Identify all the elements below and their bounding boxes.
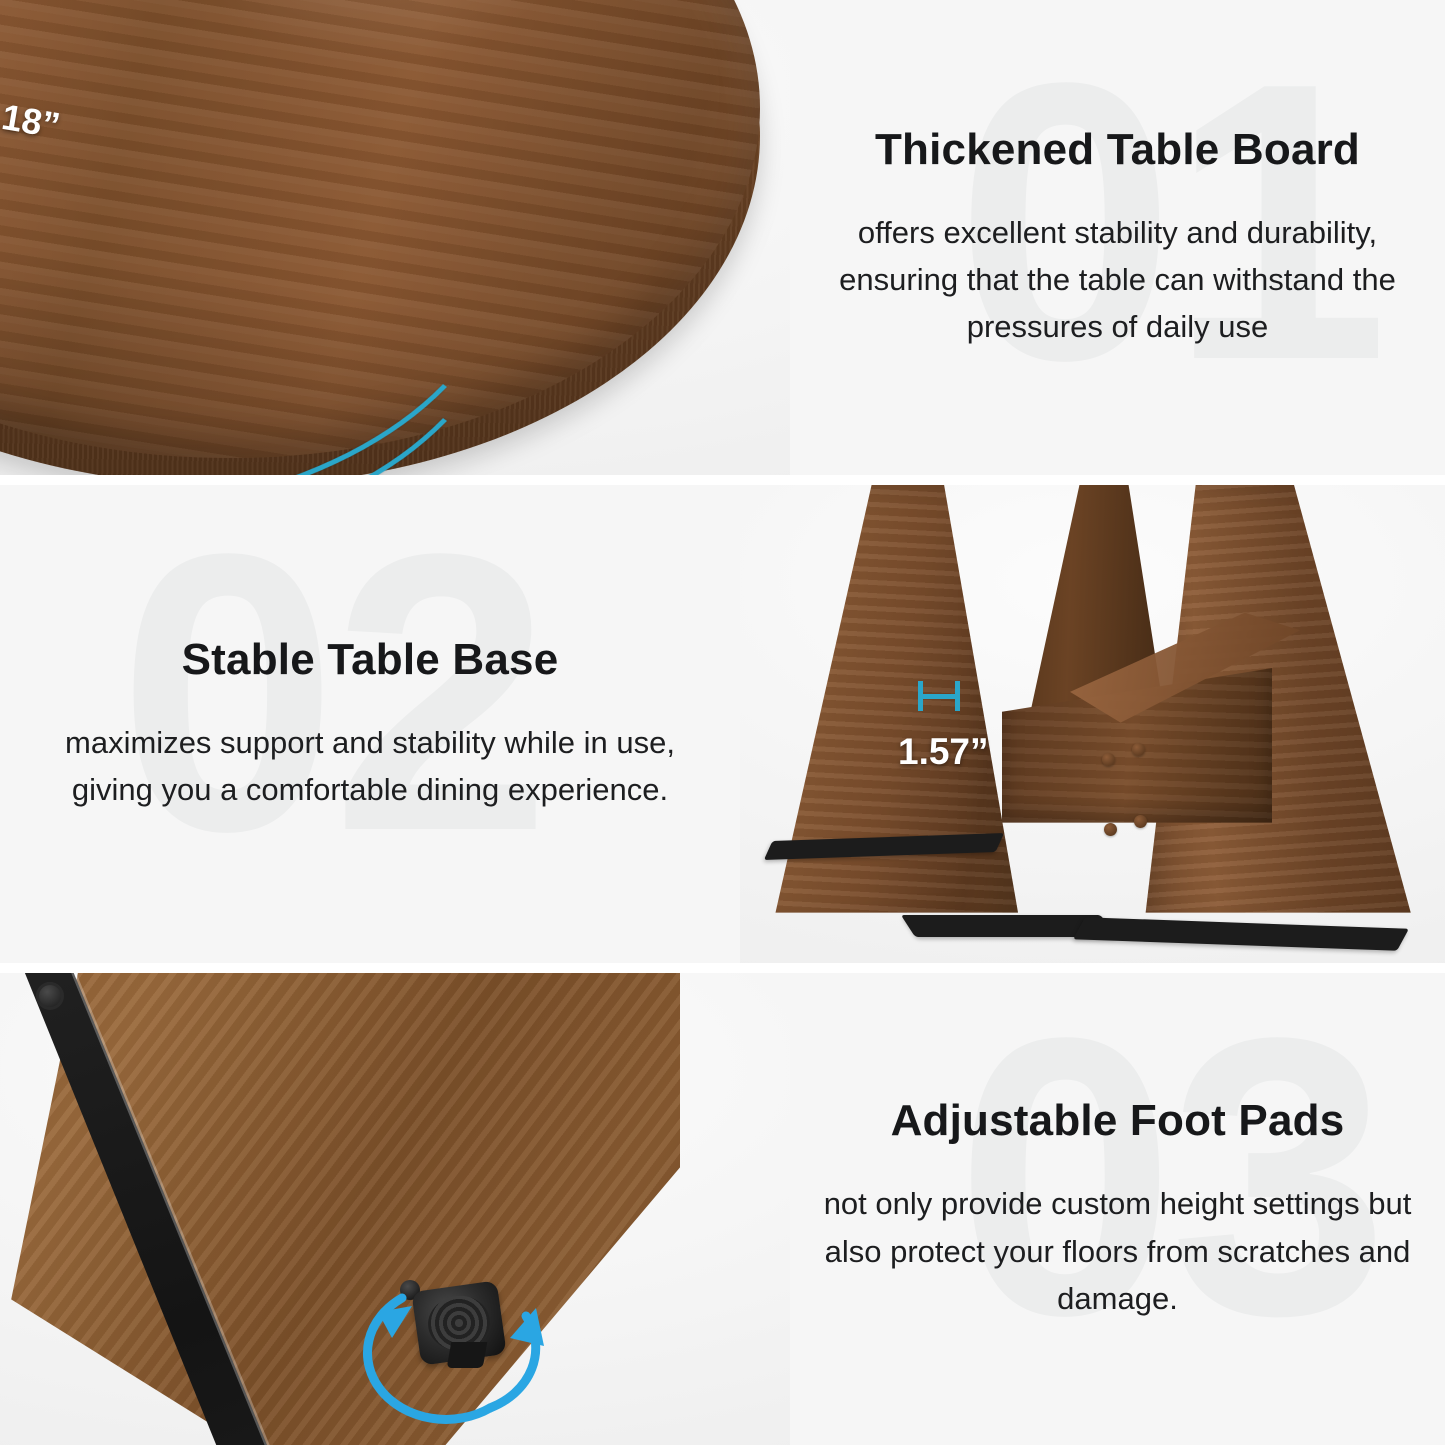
cross-pedestal-base: 1.57”	[740, 485, 1445, 964]
feature-title-01: Thickened Table Board	[875, 125, 1360, 175]
feature-panel-thickened-table-board: 1.18” 01 Thickened Table Board offers ex…	[0, 0, 1445, 475]
feature-copy-01: 01 Thickened Table Board offers excellen…	[790, 0, 1445, 475]
feature-copy-02: 02 Stable Table Base maximizes support a…	[0, 485, 740, 964]
base-foot-right	[1073, 917, 1409, 951]
table-base-thickness-label: 1.57”	[898, 731, 989, 773]
table-base-scene: 1.57”	[740, 485, 1445, 964]
round-table-top: 1.18”	[0, 0, 775, 475]
feature-title-03: Adjustable Foot Pads	[891, 1096, 1345, 1146]
assembly-screw	[1102, 753, 1115, 766]
assembly-screw	[1104, 823, 1117, 836]
feature-description-01: offers excellent stability and durabilit…	[798, 209, 1438, 350]
foot-pad-rotation-arrows-icon	[340, 1250, 600, 1440]
feature-description-02: maximizes support and stability while in…	[50, 719, 690, 813]
panel-divider	[0, 475, 1445, 485]
table-top-scene: 1.18”	[0, 0, 790, 475]
feature-copy-03: 03 Adjustable Foot Pads not only provide…	[790, 973, 1445, 1445]
feature-panel-adjustable-foot-pads: 03 Adjustable Foot Pads not only provide…	[0, 973, 1445, 1445]
table-base-photo: 1.57”	[740, 485, 1445, 964]
feature-title-02: Stable Table Base	[182, 635, 559, 685]
feature-description-03: not only provide custom height settings …	[798, 1180, 1438, 1321]
base-thickness-dimension-icon	[918, 681, 960, 711]
base-leg-left	[768, 485, 1018, 931]
feature-panel-stable-table-base: 02 Stable Table Base maximizes support a…	[0, 485, 1445, 964]
product-feature-infographic: 1.18” 01 Thickened Table Board offers ex…	[0, 0, 1445, 1445]
panel-divider	[0, 963, 1445, 973]
assembly-screw	[1134, 815, 1147, 828]
assembly-screw	[1132, 743, 1145, 756]
table-top-photo: 1.18”	[0, 0, 790, 475]
